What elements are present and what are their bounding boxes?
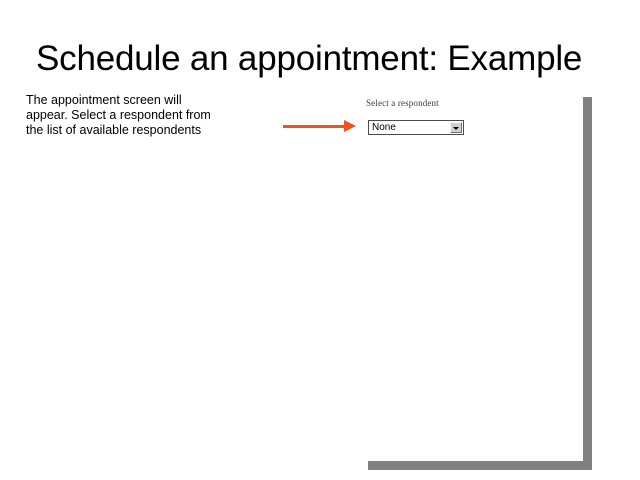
body-text-line: the list of available respondents	[26, 123, 258, 138]
respondent-select-value: None	[372, 122, 396, 134]
right-arrow-icon	[283, 119, 358, 134]
respondent-select-arrow-button[interactable]	[450, 122, 462, 133]
body-text-block: The appointment screen will appear. Sele…	[26, 93, 258, 139]
page-title: Schedule an appointment: Example	[36, 38, 616, 80]
arrow-shaft	[283, 125, 346, 128]
body-text-line: appear. Select a respondent from	[26, 108, 258, 123]
screenshot-shadow-bottom	[368, 461, 592, 470]
respondent-field-label: Select a respondent	[366, 98, 439, 108]
body-text-line: The appointment screen will	[26, 93, 258, 108]
app-screenshot-inset: Select a respondent None	[366, 98, 470, 142]
chevron-down-icon	[453, 127, 459, 130]
screenshot-shadow-right	[583, 97, 592, 470]
slide-canvas: Schedule an appointment: Example The app…	[0, 0, 640, 480]
arrow-head	[344, 120, 356, 132]
respondent-select[interactable]: None	[368, 120, 464, 135]
